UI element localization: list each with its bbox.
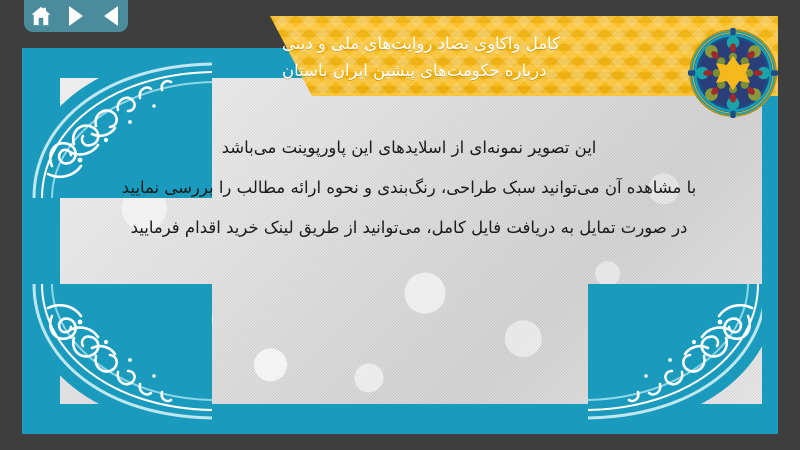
home-icon — [30, 6, 52, 26]
slide-navigation-bar — [24, 0, 128, 32]
slide-body-text: این تصویر نمونه‌ای از اسلایدهای این پاور… — [68, 128, 750, 248]
slide-title-banner: کامل واکاوی تضاد روایت‌های ملی و دینی در… — [22, 16, 778, 96]
body-line-3: در صورت تمایل به دریافت فایل کامل، می‌تو… — [68, 208, 750, 248]
next-slide-button[interactable] — [65, 5, 87, 27]
triangle-right-icon — [69, 6, 83, 26]
triangle-left-icon — [104, 6, 118, 26]
slide-canvas: کامل واکاوی تضاد روایت‌های ملی و دینی در… — [22, 16, 778, 434]
page-title-line-1: کامل واکاوی تضاد روایت‌های ملی و دینی — [282, 32, 560, 57]
previous-slide-button[interactable] — [100, 5, 122, 27]
page-title: کامل واکاوی تضاد روایت‌های ملی و دینی در… — [272, 24, 702, 92]
persian-medallion-ornament — [688, 28, 778, 118]
body-line-2: با مشاهده آن می‌توانید سبک طراحی، رنگ‌بن… — [68, 168, 750, 208]
body-line-1: این تصویر نمونه‌ای از اسلایدهای این پاور… — [68, 128, 750, 168]
slide-viewer: کامل واکاوی تضاد روایت‌های ملی و دینی در… — [0, 0, 800, 450]
page-title-line-2: درباره حکومت‌های پیشین ایران باستان — [282, 59, 546, 84]
home-button[interactable] — [30, 5, 52, 27]
